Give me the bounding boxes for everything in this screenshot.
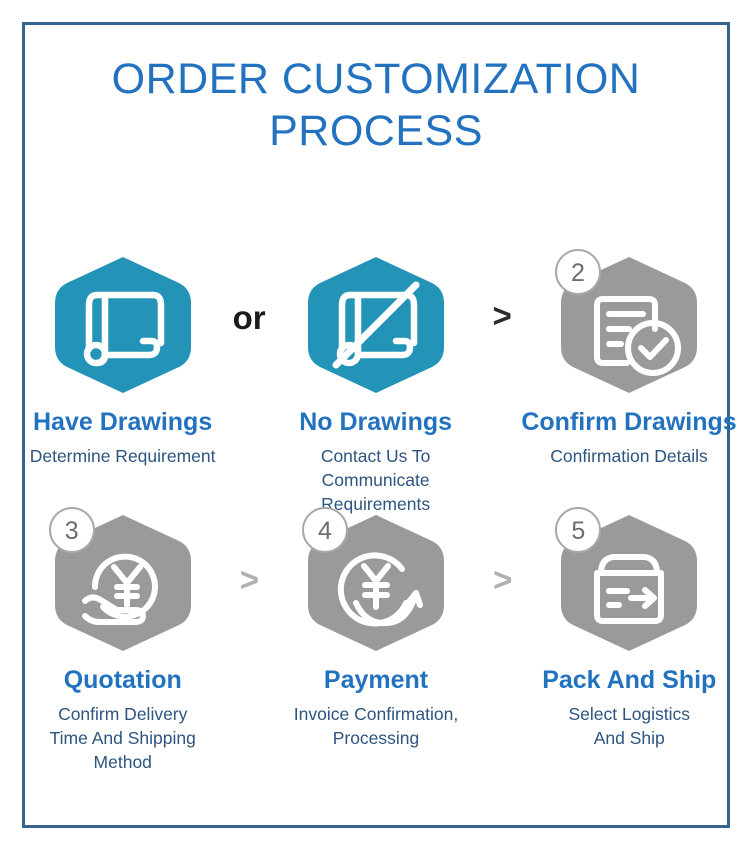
step-icon-wrap [304,253,448,397]
step-confirm-drawings[interactable]: 2 Confirm Drawings Confirmation Details [531,253,727,469]
step-badge: 4 [302,507,348,553]
process-rows: Have Drawings Determine Requirement or [25,253,727,767]
step-subtitle-line: Select Logistics [568,703,690,727]
step-subtitle: Confirm Delivery Time And Shipping Metho… [25,703,220,774]
step-subtitle: Determine Requirement [30,445,216,469]
blueprint-scroll-icon [51,253,195,397]
step-subtitle: Confirmation Details [550,445,708,469]
step-icon-wrap: 3 [51,511,195,655]
page-title-line-1: ORDER CUSTOMIZATION [25,53,727,105]
chevron-right-icon: > [492,299,511,332]
separator-chevron: > [474,511,532,596]
step-heading: Confirm Drawings [521,408,736,436]
step-heading: No Drawings [299,408,452,436]
step-subtitle-line: Processing [294,727,458,751]
step-subtitle: Select Logistics And Ship [568,703,690,751]
page-title: ORDER CUSTOMIZATION PROCESS [25,25,727,158]
step-heading: Payment [324,666,428,694]
separator-chevron: > [473,253,531,332]
step-subtitle: Contact Us To Communicate Requirements [278,445,473,516]
step-subtitle-line: And Ship [568,727,690,751]
step-subtitle-line: Contact Us To [278,445,473,469]
page-title-line-2: PROCESS [25,105,727,157]
separator-chevron: > [220,511,278,596]
step-heading: Pack And Ship [542,666,716,694]
separator-or: or [220,253,278,337]
step-heading: Have Drawings [33,408,212,436]
process-row-2: 3 Quotation Confirm Delivery Time And Sh… [25,511,727,767]
step-subtitle-line: Communicate Requirements [278,469,473,517]
step-icon-wrap: 2 [557,253,701,397]
step-heading: Quotation [64,666,182,694]
blueprint-scroll-crossed-out-icon [304,253,448,397]
step-subtitle-line: Invoice Confirmation, [294,703,458,727]
chevron-right-icon: > [493,563,512,596]
step-subtitle-line: Confirmation Details [550,445,708,469]
step-have-drawings[interactable]: Have Drawings Determine Requirement [25,253,220,469]
step-icon-wrap: 5 [557,511,701,655]
step-badge: 5 [555,507,601,553]
step-payment[interactable]: 4 Payment Invoice Confirmation, Processi… [278,511,473,751]
step-subtitle-line: Time And Shipping Method [25,727,220,775]
step-subtitle-line: Determine Requirement [30,445,216,469]
separator-or-label: or [233,299,266,337]
step-icon-wrap: 4 [304,511,448,655]
process-row-1: Have Drawings Determine Requirement or [25,253,727,511]
chevron-right-icon: > [240,563,259,596]
step-badge: 2 [555,249,601,295]
step-badge: 3 [49,507,95,553]
step-no-drawings[interactable]: No Drawings Contact Us To Communicate Re… [278,253,473,516]
infographic-card: ORDER CUSTOMIZATION PROCESS [22,22,730,828]
step-pack-and-ship[interactable]: 5 Pack And Ship Select Logistics And Shi… [532,511,727,751]
step-subtitle: Invoice Confirmation, Processing [294,703,458,751]
step-quotation[interactable]: 3 Quotation Confirm Delivery Time And Sh… [25,511,220,774]
step-icon-wrap [51,253,195,397]
step-subtitle-line: Confirm Delivery [25,703,220,727]
